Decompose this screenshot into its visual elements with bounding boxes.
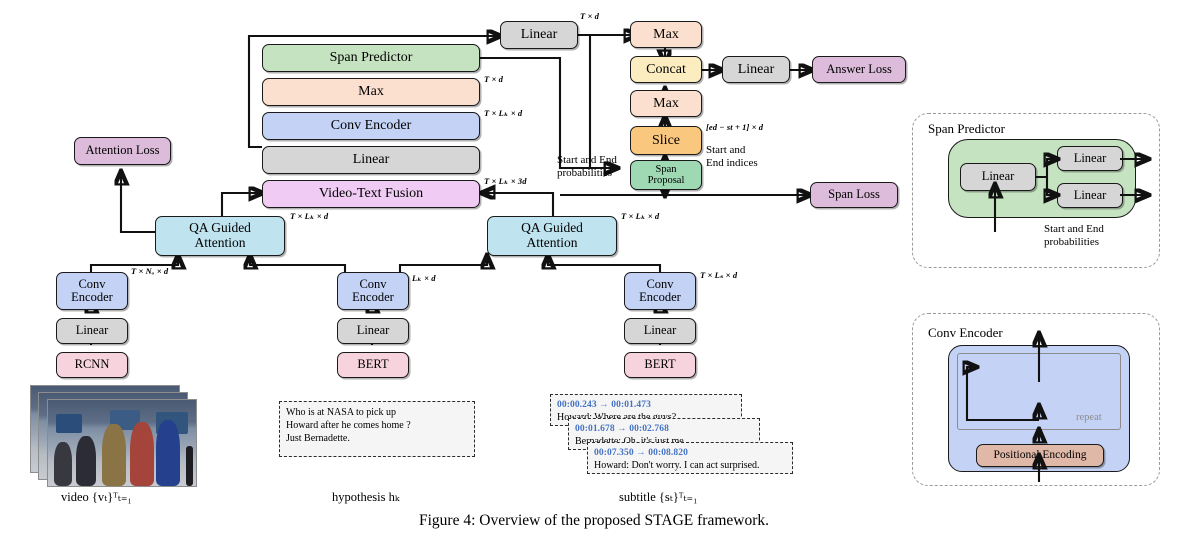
node-hypothesis-bert[interactable]: BERT <box>337 352 409 378</box>
node-answer-loss[interactable]: Answer Loss <box>812 56 906 83</box>
anno-start-end-indices: Start and End indices <box>706 144 758 170</box>
legend-node-positional-encoding-label: Positional Encoding <box>991 449 1090 461</box>
node-max-bottom-label: Max <box>650 96 682 111</box>
node-span-proposal[interactable]: Span Proposal <box>630 160 702 190</box>
anno-slice-dim: [ed − st + 1] × d <box>706 122 763 132</box>
anno-t-lk-d-qa-left: T × Lₖ × d <box>290 211 328 222</box>
legend-node-linear-start-label: Linear <box>1071 152 1110 166</box>
video-person <box>54 442 72 486</box>
node-video-conv-encoder[interactable]: Conv Encoder <box>56 272 128 310</box>
node-subtitle-conv-encoder-label: Conv Encoder <box>636 278 684 305</box>
node-concat[interactable]: Concat <box>630 56 702 83</box>
node-subtitle-linear-label: Linear <box>641 324 680 338</box>
anno-t-no-d: T × Nₒ × d <box>131 266 168 276</box>
hypothesis-text-card: Who is at NASA to pick up Howard after h… <box>279 401 475 457</box>
node-span-predictor-label: Span Predictor <box>327 50 416 65</box>
anno-t-ls-d: T × Lₛ × d <box>700 270 737 281</box>
video-frame-front <box>47 399 197 487</box>
node-span-proposal-label: Span Proposal <box>645 164 688 187</box>
hypothesis-line-1: Who is at NASA to pick up <box>286 406 468 419</box>
hypothesis-branch-label: hypothesis hₖ <box>332 489 399 505</box>
node-video-rcnn[interactable]: RCNN <box>56 352 128 378</box>
node-subtitle-linear[interactable]: Linear <box>624 318 696 344</box>
figure-caption: Figure 4: Overview of the proposed STAGE… <box>0 512 1188 530</box>
node-slice[interactable]: Slice <box>630 126 702 155</box>
legend-node-linear-in-label: Linear <box>979 170 1018 184</box>
video-person-dress <box>130 422 154 486</box>
node-video-linear[interactable]: Linear <box>56 318 128 344</box>
legend-node-linear-in[interactable]: Linear <box>960 163 1036 191</box>
video-screen-glow <box>56 414 82 433</box>
subtitle-utterance-3: Howard: Don't worry. I can act surprised… <box>594 459 786 472</box>
legend-node-linear-start[interactable]: Linear <box>1057 146 1123 171</box>
node-attention-loss[interactable]: Attention Loss <box>74 137 171 165</box>
node-hypothesis-linear-label: Linear <box>354 324 393 338</box>
node-span-predictor[interactable]: Span Predictor <box>262 44 480 72</box>
node-subtitle-conv-encoder[interactable]: Conv Encoder <box>624 272 696 310</box>
video-stanchion <box>186 446 193 486</box>
node-subtitle-bert-label: BERT <box>641 358 678 372</box>
legend-node-positional-encoding[interactable]: Positional Encoding <box>976 444 1104 467</box>
node-conv-encoder-main-label: Conv Encoder <box>328 118 414 133</box>
subtitle-card-3: 00:07.350 → 00:08.820 Howard: Don't worr… <box>587 442 793 474</box>
node-qa-guided-attention-left-label: QA Guided Attention <box>186 221 254 250</box>
node-answer-loss-label: Answer Loss <box>823 63 895 77</box>
anno-t-lk-3d: T × Lₖ × 3d <box>484 176 527 187</box>
legend-node-linear-end-label: Linear <box>1071 189 1110 203</box>
anno-t-lk-d-qa-right: T × Lₖ × d <box>621 211 659 222</box>
node-linear-answer-label: Linear <box>735 62 778 77</box>
node-video-rcnn-label: RCNN <box>72 358 113 372</box>
figure-canvas: Span Predictor Max Conv Encoder Linear V… <box>0 0 1188 556</box>
legend-span-predictor-title: Span Predictor <box>928 121 1005 137</box>
anno-t-d-top: T × d <box>580 11 599 21</box>
hypothesis-line-3: Just Bernadette. <box>286 432 468 445</box>
anno-t-d-max: T × d <box>484 74 503 84</box>
subtitle-branch-label: subtitle {sₜ}ᵀₜ₌₁ <box>619 489 697 505</box>
legend-node-linear-end[interactable]: Linear <box>1057 183 1123 208</box>
node-qa-guided-attention-right[interactable]: QA Guided Attention <box>487 216 617 256</box>
node-video-text-fusion[interactable]: Video-Text Fusion <box>262 180 480 208</box>
node-linear-main[interactable]: Linear <box>262 146 480 174</box>
hypothesis-line-2: Howard after he comes home ? <box>286 419 468 432</box>
node-span-loss-label: Span Loss <box>825 188 883 202</box>
video-person-suit <box>102 424 126 486</box>
node-attention-loss-label: Attention Loss <box>83 144 163 158</box>
node-concat-label: Concat <box>643 62 689 77</box>
node-qa-guided-attention-right-label: QA Guided Attention <box>518 221 586 250</box>
node-video-linear-label: Linear <box>73 324 112 338</box>
subtitle-timestamp-2: 00:01.678 → 00:02.768 <box>575 423 753 435</box>
node-max-main-label: Max <box>355 84 387 99</box>
subtitle-timestamp-3: 00:07.350 → 00:08.820 <box>594 447 786 459</box>
legend-conv-encoder-title: Conv Encoder <box>928 325 1003 341</box>
node-qa-guided-attention-left[interactable]: QA Guided Attention <box>155 216 285 256</box>
video-person-jacket <box>156 420 180 486</box>
node-max-top[interactable]: Max <box>630 21 702 48</box>
node-max-top-label: Max <box>650 27 682 42</box>
node-max-bottom[interactable]: Max <box>630 90 702 117</box>
anno-t-lk-d-conv: T × Lₖ × d <box>484 108 522 119</box>
node-hypothesis-conv-encoder[interactable]: Conv Encoder <box>337 272 409 310</box>
legend-span-predictor-output-label: Start and End probabilities <box>1044 223 1104 249</box>
node-linear-top[interactable]: Linear <box>500 21 578 49</box>
node-slice-label: Slice <box>649 133 683 148</box>
node-hypothesis-linear[interactable]: Linear <box>337 318 409 344</box>
node-video-conv-encoder-label: Conv Encoder <box>68 278 116 305</box>
anno-start-end-probabilities: Start and End probabilities <box>557 154 617 180</box>
video-person <box>76 436 96 486</box>
subtitle-timestamp-1: 00:00.243 → 00:01.473 <box>557 399 735 411</box>
node-subtitle-bert[interactable]: BERT <box>624 352 696 378</box>
video-branch-label: video {vₜ}ᵀₜ₌₁ <box>61 489 132 505</box>
node-conv-encoder-main[interactable]: Conv Encoder <box>262 112 480 140</box>
node-video-text-fusion-label: Video-Text Fusion <box>316 186 426 201</box>
node-span-loss[interactable]: Span Loss <box>810 182 898 208</box>
node-max-main[interactable]: Max <box>262 78 480 106</box>
legend-conv-encoder-repeat-label: repeat <box>1076 412 1102 424</box>
node-linear-answer[interactable]: Linear <box>722 56 790 83</box>
node-hypothesis-conv-encoder-label: Conv Encoder <box>349 278 397 305</box>
node-linear-main-label: Linear <box>350 152 393 167</box>
anno-lk-d: Lₖ × d <box>412 273 436 284</box>
node-hypothesis-bert-label: BERT <box>354 358 391 372</box>
node-linear-top-label: Linear <box>518 27 561 42</box>
